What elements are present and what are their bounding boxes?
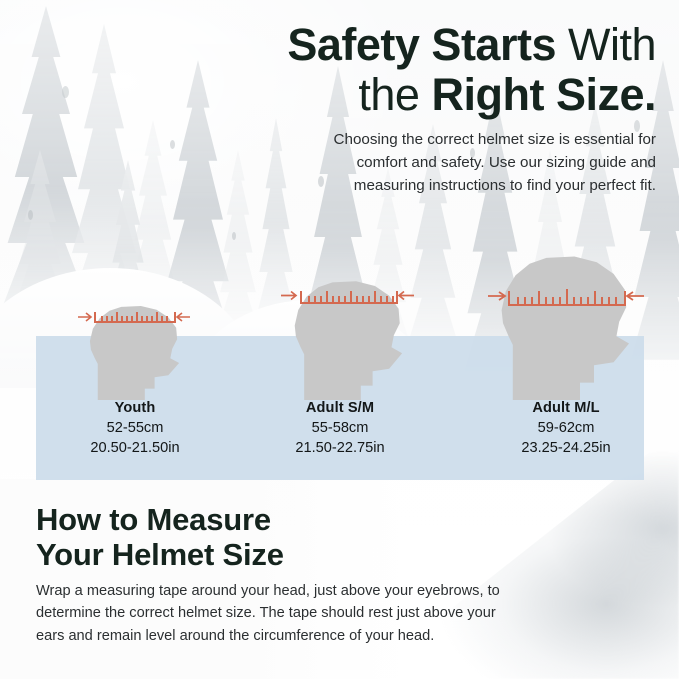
size-name: Adult S/M [240,400,440,416]
measuring-tape-icon-youth [94,310,176,323]
size-label-adult-sm: Adult S/M 55-58cm 21.50-22.75in [240,400,440,456]
size-range-inches: 20.50-21.50in [35,440,235,456]
headline-line1-bold: Safety Starts [287,19,556,70]
arrow-right-icon-adult-ml [488,290,508,302]
head-icon [496,255,636,400]
head-silhouette-adult-ml [496,255,636,400]
how-to-measure-heading: How to Measure Your Helmet Size [36,502,456,572]
arrow-left-icon-youth [174,312,190,322]
arrow-left-icon-adult-sm [396,290,414,301]
arrow-right-icon-adult-sm [281,290,299,301]
how-to-title-line1: How to Measure [36,502,456,537]
headline-line1-light: With [568,19,656,70]
arrow-left-icon-adult-ml [624,290,644,302]
size-name: Adult M/L [466,400,666,416]
size-range-cm: 55-58cm [240,420,440,436]
how-to-title-line2: Your Helmet Size [36,537,456,572]
size-label-youth: Youth 52-55cm 20.50-21.50in [35,400,235,456]
measuring-tape-icon-adult-ml [508,288,626,306]
size-label-adult-ml: Adult M/L 59-62cm 23.25-24.25in [466,400,666,456]
headline-line2-light: the [358,69,419,120]
arrow-right-icon-youth [78,312,94,322]
size-range-cm: 59-62cm [466,420,666,436]
size-range-inches: 23.25-24.25in [466,440,666,456]
size-name: Youth [35,400,235,416]
helmet-size-guide-page: Safety Starts With the Right Size. Choos… [0,0,679,679]
size-range-inches: 21.50-22.75in [240,440,440,456]
page-title: Safety Starts With the Right Size. [190,22,656,118]
intro-paragraph: Choosing the correct helmet size is esse… [300,128,656,197]
headline-line2-bold: Right Size. [431,69,656,120]
how-to-measure-body: Wrap a measuring tape around your head, … [36,580,526,647]
measuring-tape-icon-adult-sm [300,288,398,304]
size-range-cm: 52-55cm [35,420,235,436]
